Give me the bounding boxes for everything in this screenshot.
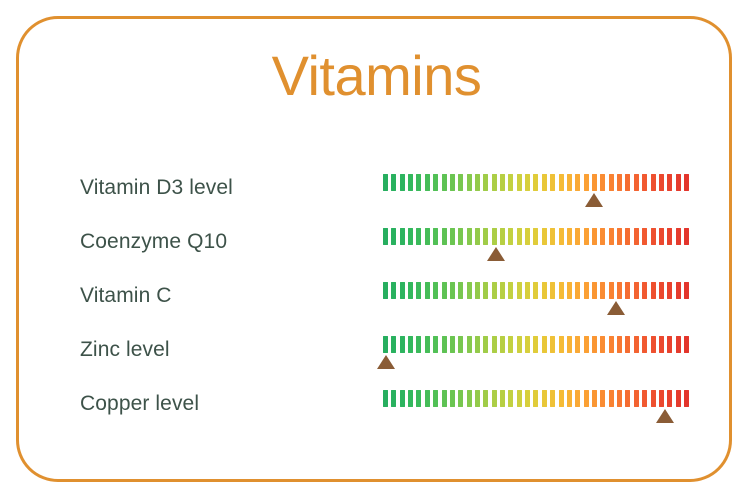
gauge-segment (642, 390, 647, 407)
gauge-segment (483, 336, 488, 353)
gauge-segment (676, 174, 681, 191)
gauge-scale (383, 282, 689, 330)
gauge-segment (617, 282, 622, 299)
gauge-segment (467, 282, 472, 299)
gauge-segment (625, 174, 630, 191)
gauge-segment (500, 336, 505, 353)
gauge-segment (642, 228, 647, 245)
gauge-segment (508, 282, 513, 299)
gauge-segment (651, 336, 656, 353)
gauge-segment (500, 282, 505, 299)
gauge-segment (458, 390, 463, 407)
gauge-segment (475, 282, 480, 299)
gauge-segment (634, 228, 639, 245)
gauge-segment (550, 390, 555, 407)
gauge-segment (442, 336, 447, 353)
gauge-segment (567, 390, 572, 407)
gauge-segment (467, 390, 472, 407)
gauge-segment (475, 336, 480, 353)
gauge-row-list: Vitamin D3 levelCoenzyme Q10Vitamin CZin… (0, 0, 753, 500)
gauge-segment (467, 228, 472, 245)
gauge-segment (416, 174, 421, 191)
gauge-segment (609, 336, 614, 353)
gauge-segment (492, 228, 497, 245)
gauge-segment (508, 336, 513, 353)
gauge-segment (467, 336, 472, 353)
gauge-segment (684, 174, 689, 191)
gauge-segment (550, 174, 555, 191)
gauge-row: Vitamin D3 level (0, 174, 753, 228)
gauge-row: Zinc level (0, 336, 753, 390)
gauge-segment (676, 336, 681, 353)
triangle-up-icon[interactable] (585, 193, 603, 207)
gauge-row: Copper level (0, 390, 753, 444)
gauge-segment (391, 174, 396, 191)
gauge-segment (659, 390, 664, 407)
gauge-segment (433, 174, 438, 191)
gauge-segment (559, 174, 564, 191)
gauge-segment (559, 336, 564, 353)
gauge-segment (533, 336, 538, 353)
gauge-segment (600, 282, 605, 299)
gauge-segment (584, 336, 589, 353)
gauge-segment (684, 282, 689, 299)
gauge-segment-track (383, 174, 689, 191)
gauge-segment (592, 228, 597, 245)
gauge-segment (450, 390, 455, 407)
gauge-segment (475, 174, 480, 191)
triangle-up-icon[interactable] (377, 355, 395, 369)
gauge-segment (684, 336, 689, 353)
gauge-segment (408, 282, 413, 299)
gauge-row-label: Vitamin C (80, 282, 172, 310)
gauge-segment (533, 390, 538, 407)
gauge-segment (609, 174, 614, 191)
gauge-segment (659, 282, 664, 299)
gauge-segment (609, 282, 614, 299)
gauge-segment (667, 336, 672, 353)
gauge-segment (492, 390, 497, 407)
gauge-segment-track (383, 336, 689, 353)
gauge-segment (634, 390, 639, 407)
gauge-row: Vitamin C (0, 282, 753, 336)
gauge-segment (533, 282, 538, 299)
gauge-segment (617, 336, 622, 353)
gauge-segment (592, 336, 597, 353)
gauge-segment (659, 174, 664, 191)
gauge-segment (400, 174, 405, 191)
gauge-segment (567, 282, 572, 299)
gauge-segment (425, 390, 430, 407)
gauge-segment (391, 282, 396, 299)
gauge-segment (667, 282, 672, 299)
gauge-segment (391, 228, 396, 245)
gauge-segment (500, 228, 505, 245)
gauge-segment (408, 390, 413, 407)
gauge-segment (625, 282, 630, 299)
gauge-segment (634, 174, 639, 191)
triangle-up-icon[interactable] (607, 301, 625, 315)
gauge-segment (575, 390, 580, 407)
gauge-segment (634, 282, 639, 299)
gauge-segment (651, 174, 656, 191)
gauge-segment (400, 336, 405, 353)
gauge-segment (676, 228, 681, 245)
gauge-segment (433, 282, 438, 299)
gauge-segment (483, 174, 488, 191)
gauge-segment (450, 228, 455, 245)
gauge-segment (575, 228, 580, 245)
gauge-segment (525, 390, 530, 407)
gauge-segment (617, 174, 622, 191)
gauge-segment (542, 228, 547, 245)
gauge-segment (400, 282, 405, 299)
gauge-segment (525, 174, 530, 191)
gauge-segment (676, 282, 681, 299)
gauge-segment-track (383, 228, 689, 245)
gauge-segment (383, 228, 388, 245)
gauge-segment (508, 390, 513, 407)
gauge-segment (517, 228, 522, 245)
gauge-segment (508, 228, 513, 245)
gauge-segment (492, 174, 497, 191)
gauge-segment (533, 174, 538, 191)
gauge-segment (592, 174, 597, 191)
gauge-segment (559, 390, 564, 407)
gauge-segment (634, 336, 639, 353)
gauge-row-label: Copper level (80, 390, 199, 418)
gauge-segment (667, 174, 672, 191)
gauge-segment (533, 228, 538, 245)
gauge-segment (584, 228, 589, 245)
gauge-segment (567, 228, 572, 245)
gauge-segment (442, 228, 447, 245)
gauge-segment (508, 174, 513, 191)
gauge-segment-track (383, 282, 689, 299)
gauge-segment (584, 390, 589, 407)
gauge-segment (559, 282, 564, 299)
gauge-segment (442, 174, 447, 191)
gauge-segment (416, 282, 421, 299)
gauge-segment (550, 336, 555, 353)
gauge-segment (600, 390, 605, 407)
gauge-segment (517, 282, 522, 299)
gauge-segment (408, 174, 413, 191)
gauge-segment (542, 174, 547, 191)
gauge-segment (383, 336, 388, 353)
gauge-segment (659, 336, 664, 353)
gauge-segment (584, 174, 589, 191)
gauge-segment (425, 336, 430, 353)
gauge-segment (684, 390, 689, 407)
gauge-segment (450, 336, 455, 353)
gauge-segment (676, 390, 681, 407)
gauge-segment (433, 336, 438, 353)
gauge-segment (525, 282, 530, 299)
gauge-segment (684, 228, 689, 245)
gauge-segment (458, 282, 463, 299)
gauge-segment (651, 228, 656, 245)
gauge-row-label: Vitamin D3 level (80, 174, 233, 202)
gauge-segment (550, 228, 555, 245)
gauge-segment-track (383, 390, 689, 407)
gauge-segment (425, 282, 430, 299)
gauge-segment (391, 390, 396, 407)
gauge-segment (383, 174, 388, 191)
gauge-segment (416, 336, 421, 353)
gauge-segment (425, 228, 430, 245)
triangle-up-icon[interactable] (487, 247, 505, 261)
gauge-segment (609, 390, 614, 407)
gauge-scale (383, 336, 689, 384)
gauge-segment (400, 228, 405, 245)
gauge-segment (651, 282, 656, 299)
gauge-segment (467, 174, 472, 191)
gauge-segment (458, 174, 463, 191)
gauge-segment (600, 336, 605, 353)
gauge-segment (617, 390, 622, 407)
gauge-segment (450, 282, 455, 299)
gauge-segment (383, 282, 388, 299)
gauge-segment (609, 228, 614, 245)
gauge-segment (500, 390, 505, 407)
gauge-segment (642, 282, 647, 299)
gauge-segment (542, 390, 547, 407)
gauge-segment (567, 174, 572, 191)
gauge-segment (517, 336, 522, 353)
gauge-segment (525, 228, 530, 245)
gauge-segment (442, 390, 447, 407)
gauge-segment (659, 228, 664, 245)
gauge-segment (483, 282, 488, 299)
gauge-segment (625, 228, 630, 245)
gauge-segment (475, 228, 480, 245)
gauge-segment (425, 174, 430, 191)
gauge-segment (383, 390, 388, 407)
gauge-segment (450, 174, 455, 191)
gauge-segment (458, 336, 463, 353)
gauge-segment (559, 228, 564, 245)
gauge-scale (383, 228, 689, 276)
gauge-segment (517, 174, 522, 191)
gauge-segment (483, 228, 488, 245)
gauge-segment (483, 390, 488, 407)
gauge-segment (642, 336, 647, 353)
gauge-segment (492, 336, 497, 353)
gauge-segment (592, 390, 597, 407)
gauge-segment (492, 282, 497, 299)
gauge-segment (500, 174, 505, 191)
gauge-segment (642, 174, 647, 191)
gauge-row: Coenzyme Q10 (0, 228, 753, 282)
vitamins-infographic: Vitamins Vitamin D3 levelCoenzyme Q10Vit… (0, 0, 753, 500)
gauge-segment (542, 282, 547, 299)
gauge-segment (600, 228, 605, 245)
gauge-segment (433, 390, 438, 407)
gauge-segment (567, 336, 572, 353)
gauge-segment (408, 336, 413, 353)
gauge-segment (617, 228, 622, 245)
gauge-scale (383, 390, 689, 438)
gauge-segment (517, 390, 522, 407)
gauge-segment (433, 228, 438, 245)
gauge-segment (575, 282, 580, 299)
gauge-segment (592, 282, 597, 299)
gauge-row-label: Coenzyme Q10 (80, 228, 227, 256)
gauge-segment (442, 282, 447, 299)
gauge-segment (584, 282, 589, 299)
gauge-segment (667, 228, 672, 245)
gauge-segment (575, 336, 580, 353)
gauge-segment (408, 228, 413, 245)
gauge-segment (542, 336, 547, 353)
gauge-segment (651, 390, 656, 407)
gauge-segment (400, 390, 405, 407)
gauge-segment (391, 336, 396, 353)
gauge-segment (416, 390, 421, 407)
gauge-segment (525, 336, 530, 353)
gauge-segment (575, 174, 580, 191)
gauge-segment (667, 390, 672, 407)
gauge-segment (550, 282, 555, 299)
gauge-segment (600, 174, 605, 191)
gauge-segment (458, 228, 463, 245)
gauge-segment (625, 336, 630, 353)
gauge-segment (625, 390, 630, 407)
gauge-segment (416, 228, 421, 245)
gauge-row-label: Zinc level (80, 336, 170, 364)
triangle-up-icon[interactable] (656, 409, 674, 423)
gauge-scale (383, 174, 689, 222)
gauge-segment (475, 390, 480, 407)
